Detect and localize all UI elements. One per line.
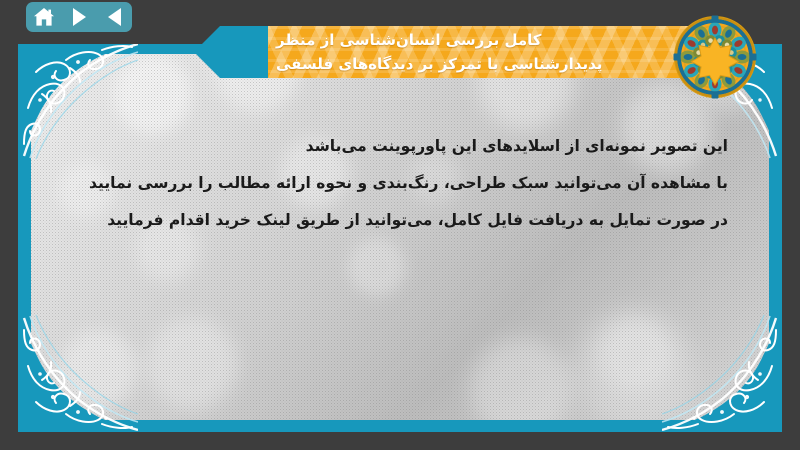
- body-line: با مشاهده آن می‌توانید سبک طراحی، رنگ‌بن…: [40, 165, 728, 202]
- body-line: این تصویر نمونه‌ای از اسلایدهای این پاور…: [40, 128, 728, 165]
- bokeh-circle: [574, 308, 694, 428]
- slide-stage: این تصویر نمونه‌ای از اسلایدهای این پاور…: [0, 0, 800, 450]
- frame-band-right: [769, 42, 782, 432]
- triangle-left-icon: [108, 8, 121, 26]
- frame-band-left: [18, 42, 31, 432]
- body-line: در صورت تمایل به دریافت فایل کامل، می‌تو…: [40, 202, 728, 239]
- persian-medallion-icon: [672, 14, 758, 100]
- frame-band-bottom: [18, 420, 782, 432]
- slide-body: این تصویر نمونه‌ای از اسلایدهای این پاور…: [40, 128, 728, 239]
- slide-navigation-bar[interactable]: [26, 2, 132, 32]
- home-icon: [33, 7, 55, 27]
- next-slide-button[interactable]: [66, 5, 92, 29]
- triangle-right-icon: [73, 8, 86, 26]
- prev-slide-button[interactable]: [101, 5, 127, 29]
- slide-title-line-2: پدیدارشناسی با تمرکز بر دیدگاه‌های فلسفی: [276, 52, 602, 76]
- slide-title-line-1: کامل بررسی انسان‌شناسی از منظر: [276, 28, 541, 52]
- bokeh-circle: [470, 338, 572, 432]
- slide-title-banner: کامل بررسی انسان‌شناسی از منظر پدیدارشنا…: [268, 26, 720, 78]
- bokeh-circle: [598, 318, 672, 392]
- slide-title: کامل بررسی انسان‌شناسی از منظر پدیدارشنا…: [268, 26, 720, 78]
- bokeh-circle: [60, 330, 138, 408]
- bokeh-circle: [348, 238, 406, 296]
- bokeh-circle: [146, 318, 238, 410]
- home-button[interactable]: [31, 5, 57, 29]
